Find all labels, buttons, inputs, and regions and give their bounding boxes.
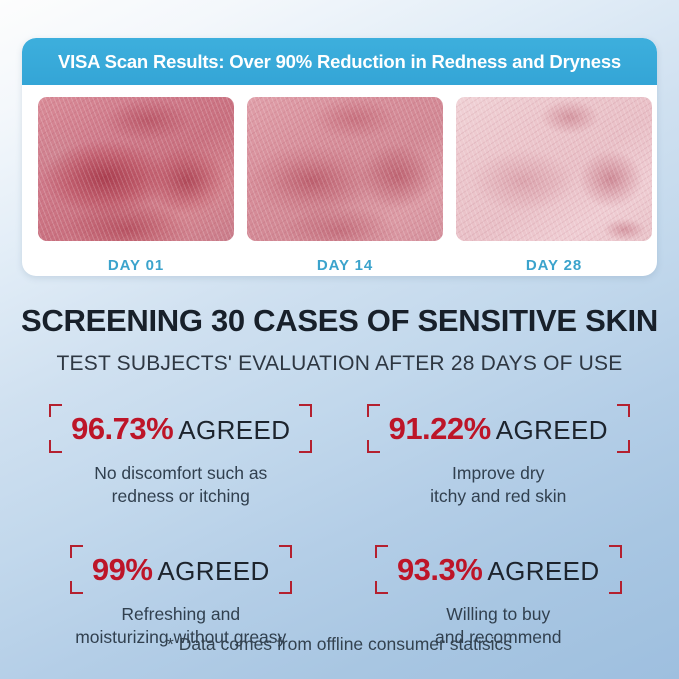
stat-headline-3: 99%AGREED xyxy=(70,545,292,594)
scan-panel-day-28: DAY 28 xyxy=(456,97,652,274)
stat-headline-4: 93.3%AGREED xyxy=(375,545,622,594)
stat-agreed-label-2: AGREED xyxy=(496,415,608,445)
visa-scan-header-title: VISA Scan Results: Over 90% Reduction in… xyxy=(58,51,621,73)
bracket-top-right-icon xyxy=(617,404,630,417)
stat-description-1: No discomfort such as redness or itching xyxy=(22,462,340,509)
stat-item-1: 96.73%AGREED No discomfort such as redne… xyxy=(22,404,340,509)
stat-item-2: 91.22%AGREED Improve dry itchy and red s… xyxy=(340,404,658,509)
stat-agreed-label-3: AGREED xyxy=(157,556,269,586)
data-source-footnote: * Data comes from offline consumer stati… xyxy=(0,634,679,655)
skin-texture-overlay xyxy=(38,97,234,241)
skin-texture-overlay xyxy=(456,97,652,241)
page-subtitle: TEST SUBJECTS' EVALUATION AFTER 28 DAYS … xyxy=(0,352,679,376)
scan-panel-day-01: DAY 01 xyxy=(38,97,234,274)
bracket-top-left-icon xyxy=(70,545,83,558)
bracket-bottom-right-icon xyxy=(609,581,622,594)
bracket-bottom-left-icon xyxy=(367,440,380,453)
stat-desc-line-2: redness or itching xyxy=(22,485,340,508)
bracket-top-left-icon xyxy=(367,404,380,417)
visa-scan-panels: DAY 01 DAY 14 DAY 28 xyxy=(22,85,657,274)
stat-agreed-label-1: AGREED xyxy=(178,415,290,445)
stat-headline-1: 96.73%AGREED xyxy=(49,404,312,453)
stat-desc-line-1: Improve dry xyxy=(340,462,658,485)
stat-percent-2: 91.22% xyxy=(389,411,491,446)
day-label-14: DAY 14 xyxy=(247,257,443,274)
stat-desc-line-2: itchy and red skin xyxy=(340,485,658,508)
stat-headline-2: 91.22%AGREED xyxy=(367,404,630,453)
bracket-top-right-icon xyxy=(279,545,292,558)
bracket-bottom-right-icon xyxy=(299,440,312,453)
visa-scan-header: VISA Scan Results: Over 90% Reduction in… xyxy=(22,38,657,85)
stats-grid: 96.73%AGREED No discomfort such as redne… xyxy=(22,404,657,649)
skin-image-day-28 xyxy=(456,97,652,241)
skin-image-day-14 xyxy=(247,97,443,241)
day-label-01: DAY 01 xyxy=(38,257,234,274)
bracket-top-left-icon xyxy=(49,404,62,417)
bracket-bottom-left-icon xyxy=(375,581,388,594)
bracket-top-right-icon xyxy=(609,545,622,558)
bracket-bottom-right-icon xyxy=(617,440,630,453)
stat-desc-line-1: Willing to buy xyxy=(340,603,658,626)
bracket-bottom-left-icon xyxy=(70,581,83,594)
stat-percent-4: 93.3% xyxy=(397,552,482,587)
stat-description-2: Improve dry itchy and red skin xyxy=(340,462,658,509)
bracket-bottom-left-icon xyxy=(49,440,62,453)
skin-image-day-01 xyxy=(38,97,234,241)
day-label-28: DAY 28 xyxy=(456,257,652,274)
stat-agreed-label-4: AGREED xyxy=(487,556,599,586)
page-title: SCREENING 30 CASES OF SENSITIVE SKIN xyxy=(0,303,679,339)
bracket-top-right-icon xyxy=(299,404,312,417)
stat-percent-1: 96.73% xyxy=(71,411,173,446)
stat-desc-line-1: No discomfort such as xyxy=(22,462,340,485)
scan-panel-day-14: DAY 14 xyxy=(247,97,443,274)
stat-percent-3: 99% xyxy=(92,552,153,587)
stat-desc-line-1: Refreshing and xyxy=(22,603,340,626)
visa-scan-card: VISA Scan Results: Over 90% Reduction in… xyxy=(22,38,657,276)
bracket-bottom-right-icon xyxy=(279,581,292,594)
skin-texture-overlay xyxy=(247,97,443,241)
bracket-top-left-icon xyxy=(375,545,388,558)
